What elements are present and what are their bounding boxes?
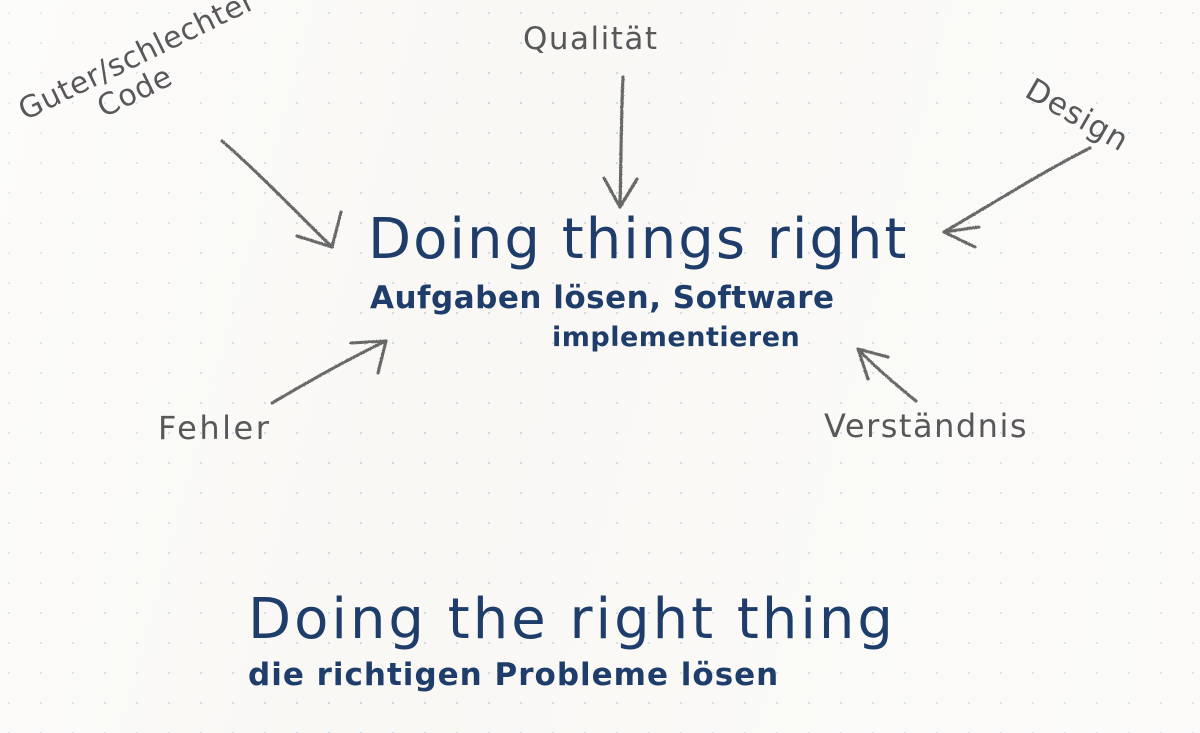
label-fehler: Fehler <box>158 412 271 444</box>
arrow-fehler-to-subtitle <box>272 341 386 403</box>
heading-doing-the-right-thing: Doing the right thing <box>248 592 896 648</box>
arrow-code-to-heading <box>222 141 341 247</box>
sketch-canvas: Guter/schlechter Code Qualität Design Fe… <box>0 0 1200 733</box>
arrow-verstaendnis-to-subtitle <box>858 349 916 401</box>
heading-doing-things-right: Doing things right <box>368 212 908 268</box>
arrow-design-to-heading <box>944 148 1090 247</box>
label-verstaendnis: Verständnis <box>824 410 1028 442</box>
label-guter-schlechter-code: Guter/schlechter Code <box>14 0 274 155</box>
subtitle-doing-things-right-line2: implementieren <box>552 324 800 351</box>
label-qualitaet: Qualität <box>523 24 659 55</box>
label-design: Design <box>1020 74 1133 157</box>
arrow-qualitaet-to-heading <box>604 77 637 207</box>
subtitle-doing-the-right-thing: die richtigen Probleme lösen <box>248 660 779 691</box>
subtitle-doing-things-right-line1: Aufgaben lösen, Software <box>370 283 835 314</box>
